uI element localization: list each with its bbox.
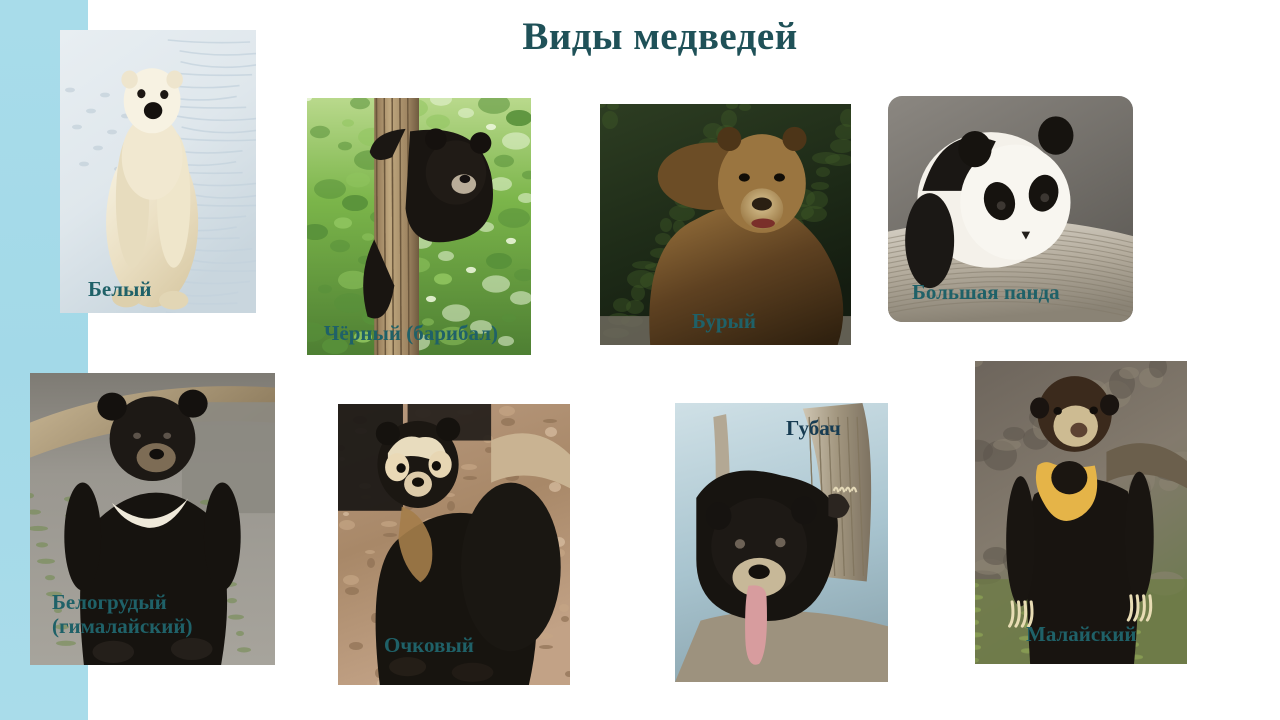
bear-photo-brown[interactable] — [600, 104, 851, 345]
bear-photo-asiatic-black[interactable] — [30, 373, 275, 665]
bear-photo-spectacled[interactable] — [338, 404, 570, 685]
bear-photo-american-black[interactable] — [307, 98, 531, 355]
bear-photo-sun[interactable] — [975, 361, 1187, 664]
bear-photo-sloth[interactable] — [675, 403, 888, 682]
bear-photo-giant-panda[interactable] — [888, 96, 1133, 322]
bear-photo-polar[interactable] — [60, 30, 256, 313]
page-title: Виды медведей — [380, 14, 940, 59]
slide-canvas: Виды медведей БелыйЧёрный (барибал)Бурый… — [0, 0, 1280, 720]
